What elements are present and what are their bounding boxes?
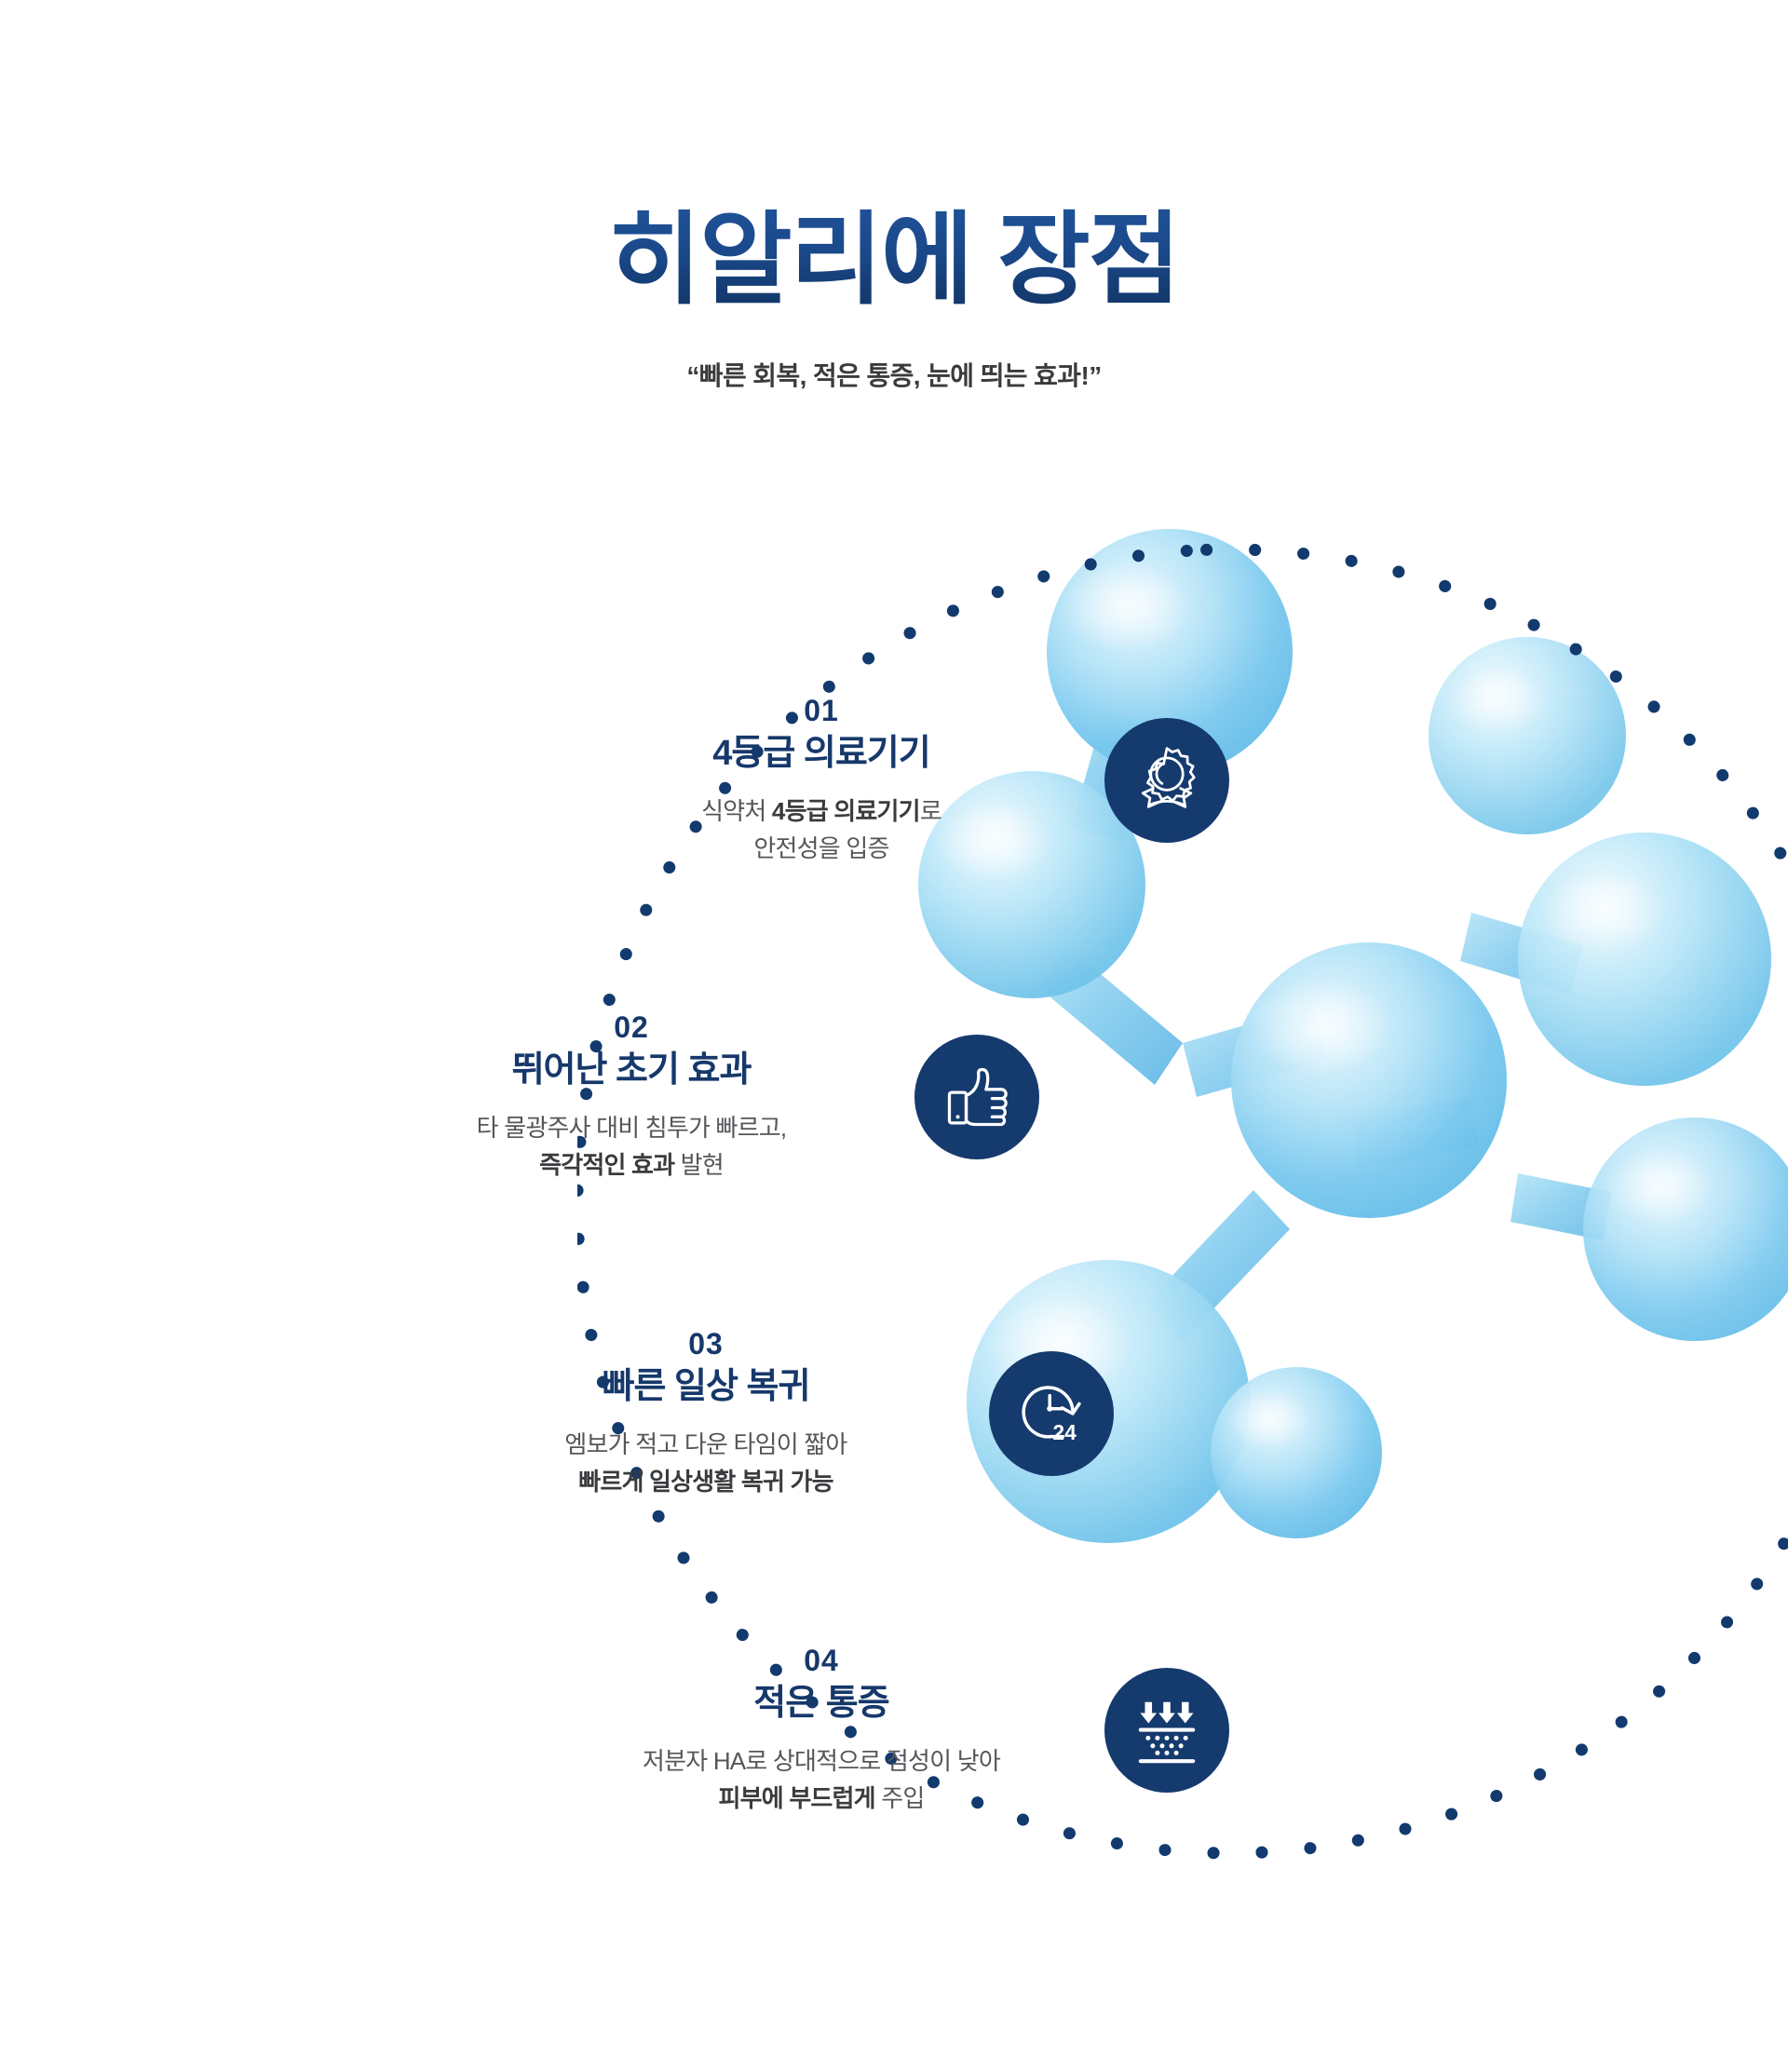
award-badge-icon (1104, 718, 1229, 843)
feature-text-03: 03 빠른 일상 복귀 엠보가 적고 다운 타임이 짧아 빠르게 일상생활 복귀… (464, 1327, 948, 1501)
feature-number: 01 (579, 694, 1063, 728)
skin-absorption-icon (1104, 1668, 1229, 1793)
feature-number: 04 (579, 1644, 1063, 1678)
desc-emphasis: 피부에 부드럽게 (719, 1784, 875, 1812)
feature-number: 03 (464, 1327, 948, 1361)
feature-title: 4등급 의료기기 (579, 730, 1063, 778)
desc-text: 엠보가 적고 다운 타임이 짧아 (564, 1430, 847, 1458)
feature-description: 저분자 HA로 상대적으로 점성이 낮아 피부에 부드럽게 주입 (579, 1742, 1063, 1818)
svg-text:24: 24 (1052, 1421, 1077, 1445)
desc-emphasis: 빠르게 일상생활 복귀 가능 (578, 1468, 833, 1496)
feature-text-02: 02 뛰어난 초기 효과 타 물광주사 대비 침투가 빠르고, 즉각적인 효과 … (389, 1010, 874, 1185)
feature-desc-line-2: 즉각적인 효과 발현 (389, 1146, 874, 1184)
feature-desc-line-2: 피부에 부드럽게 주입 (579, 1780, 1063, 1817)
desc-emphasis: 4등급 의료기기 (772, 797, 920, 825)
feature-item-04: 04 적은 통증 저분자 HA로 상대적으로 점성이 낮아 피부에 부드럽게 주… (579, 1644, 1229, 1818)
desc-text: 식약처 (701, 797, 772, 825)
page-header: 히알리에 장점 “빠른 회복, 적은 통증, 눈에 띄는 효과!” (0, 0, 1788, 393)
desc-text: 안전성을 입증 (753, 834, 888, 862)
desc-text: 저분자 HA로 상대적으로 점성이 낮아 (643, 1747, 1000, 1775)
page-subtitle: “빠른 회복, 적은 통증, 눈에 띄는 효과!” (0, 356, 1788, 393)
feature-desc-line-1: 엠보가 적고 다운 타임이 짧아 (464, 1426, 948, 1463)
page-root: 히알리에 장점 “빠른 회복, 적은 통증, 눈에 띄는 효과!” 01 4등급… (0, 0, 1788, 2072)
desc-text: 발현 (674, 1151, 724, 1179)
desc-text: 타 물광주사 대비 침투가 빠르고, (477, 1114, 787, 1142)
feature-description: 타 물광주사 대비 침투가 빠르고, 즉각적인 효과 발현 (389, 1109, 874, 1185)
feature-desc-line-1: 저분자 HA로 상대적으로 점성이 낮아 (579, 1742, 1063, 1780)
feature-number: 02 (389, 1010, 874, 1045)
feature-desc-line-1: 식약처 4등급 의료기기로 (579, 792, 1063, 830)
feature-item-02: 02 뛰어난 초기 효과 타 물광주사 대비 침투가 빠르고, 즉각적인 효과 … (389, 1010, 1039, 1185)
feature-text-04: 04 적은 통증 저분자 HA로 상대적으로 점성이 낮아 피부에 부드럽게 주… (579, 1644, 1063, 1818)
feature-desc-line-2: 빠르게 일상생활 복귀 가능 (464, 1463, 948, 1500)
thumbs-up-icon (914, 1035, 1039, 1159)
desc-text: 로 (920, 797, 941, 825)
clock-24-icon: 24 (989, 1351, 1114, 1476)
page-title: 히알리에 장점 (0, 207, 1788, 313)
feature-text-01: 01 4등급 의료기기 식약처 4등급 의료기기로 안전성을 입증 (579, 694, 1063, 868)
desc-text: 주입 (875, 1784, 925, 1812)
feature-desc-line-2: 안전성을 입증 (579, 830, 1063, 867)
feature-title: 뛰어난 초기 효과 (389, 1047, 874, 1094)
feature-description: 식약처 4등급 의료기기로 안전성을 입증 (579, 792, 1063, 868)
feature-item-03: 03 빠른 일상 복귀 엠보가 적고 다운 타임이 짧아 빠르게 일상생활 복귀… (464, 1327, 1114, 1501)
feature-description: 엠보가 적고 다운 타임이 짧아 빠르게 일상생활 복귀 가능 (464, 1426, 948, 1501)
feature-title: 적은 통증 (579, 1680, 1063, 1727)
feature-title: 빠른 일상 복귀 (464, 1363, 948, 1411)
desc-emphasis: 즉각적인 효과 (539, 1151, 674, 1179)
feature-desc-line-1: 타 물광주사 대비 침투가 빠르고, (389, 1109, 874, 1146)
feature-item-01: 01 4등급 의료기기 식약처 4등급 의료기기로 안전성을 입증 (579, 694, 1229, 868)
